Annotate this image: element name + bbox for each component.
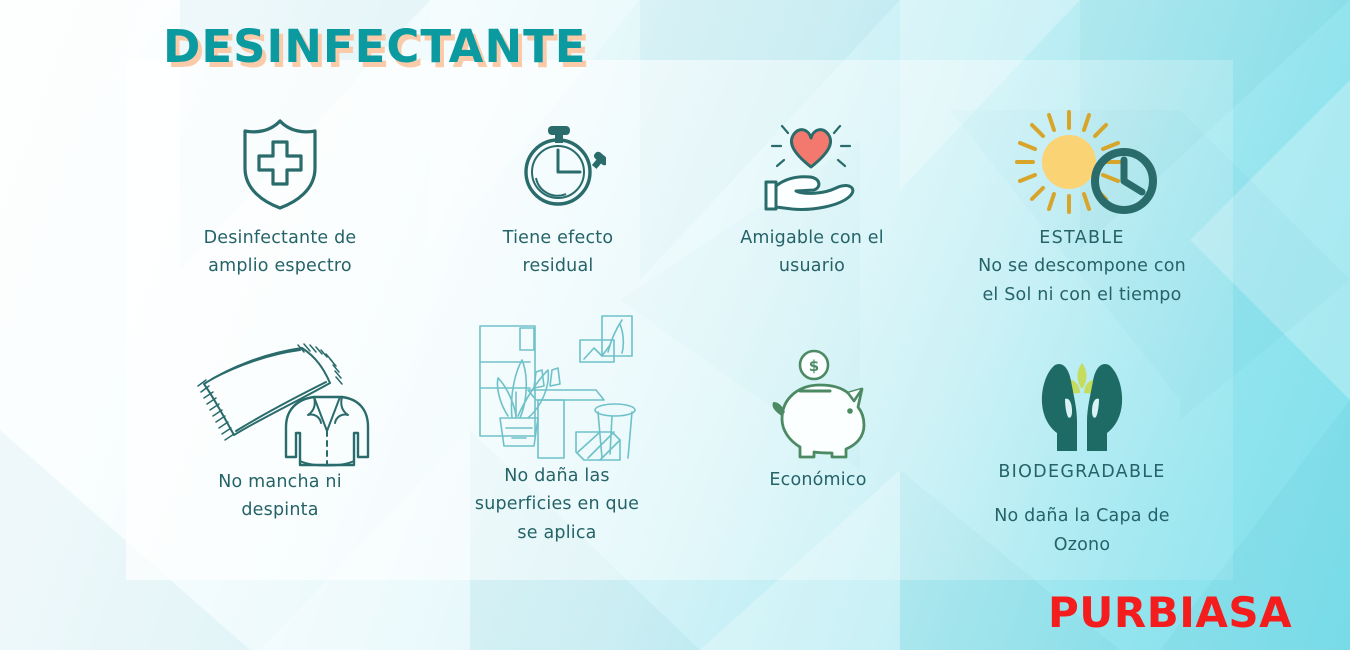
feature-caption: Desinfectante de amplio espectro <box>180 224 380 281</box>
feature-item-stable: ESTABLE No se descompone con el Sol ni c… <box>948 104 1216 309</box>
infographic-canvas: DESINFECTANTE Desinfectante de amplio es… <box>0 0 1350 650</box>
piggy-bank-icon: $ <box>718 348 918 466</box>
caption-line: se aplica <box>452 519 662 547</box>
caption-line: Desinfectante de <box>180 224 380 252</box>
page-title: DESINFECTANTE <box>163 20 587 73</box>
caption-line: No daña las <box>452 462 662 490</box>
caption-line: usuario <box>712 252 912 280</box>
caption-line: Amigable con el <box>712 224 912 252</box>
interior-surfaces-icon <box>452 312 662 462</box>
hand-heart-icon <box>712 104 912 224</box>
caption-line: No mancha ni <box>180 468 380 496</box>
feature-item-broad-spectrum: Desinfectante de amplio espectro <box>180 104 380 281</box>
feature-item-economic: $ Económico <box>718 348 918 494</box>
caption-line: amplio espectro <box>180 252 380 280</box>
shield-cross-icon <box>180 104 380 224</box>
feature-caption: Tiene efecto residual <box>458 224 658 281</box>
stopwatch-icon <box>458 104 658 224</box>
feature-item-biodegradable: BIODEGRADABLE No daña la Capa de Ozono <box>948 348 1216 559</box>
fabric-jacket-icon <box>180 338 380 468</box>
feature-item-residual-effect: Tiene efecto residual <box>458 104 658 281</box>
caption-heading: BIODEGRADABLE <box>948 458 1216 486</box>
feature-caption: BIODEGRADABLE No daña la Capa de Ozono <box>948 458 1216 559</box>
feature-caption: No mancha ni despinta <box>180 468 380 525</box>
caption-line: Ozono <box>948 531 1216 559</box>
caption-heading: ESTABLE <box>948 224 1216 252</box>
feature-item-no-stain: No mancha ni despinta <box>180 338 380 525</box>
caption-line: superficies en que <box>452 490 662 518</box>
brand-wordmark: PURBIASA <box>1048 588 1292 637</box>
svg-text:$: $ <box>809 357 819 375</box>
feature-caption: Amigable con el usuario <box>712 224 912 281</box>
caption-line: Tiene efecto <box>458 224 658 252</box>
hands-leaves-icon <box>948 348 1216 458</box>
feature-caption: ESTABLE No se descompone con el Sol ni c… <box>948 224 1216 309</box>
caption-line: No se descompone con <box>948 252 1216 280</box>
feature-item-user-friendly: Amigable con el usuario <box>712 104 912 281</box>
feature-caption: No daña las superficies en que se aplica <box>452 462 662 547</box>
caption-spacer <box>948 486 1216 502</box>
sun-clock-icon <box>948 104 1216 224</box>
caption-line: No daña la Capa de <box>948 502 1216 530</box>
caption-line: residual <box>458 252 658 280</box>
caption-line: despinta <box>180 496 380 524</box>
caption-line: Económico <box>718 466 918 494</box>
caption-line: el Sol ni con el tiempo <box>948 281 1216 309</box>
feature-item-no-surface-damage: No daña las superficies en que se aplica <box>452 312 662 547</box>
feature-caption: Económico <box>718 466 918 494</box>
